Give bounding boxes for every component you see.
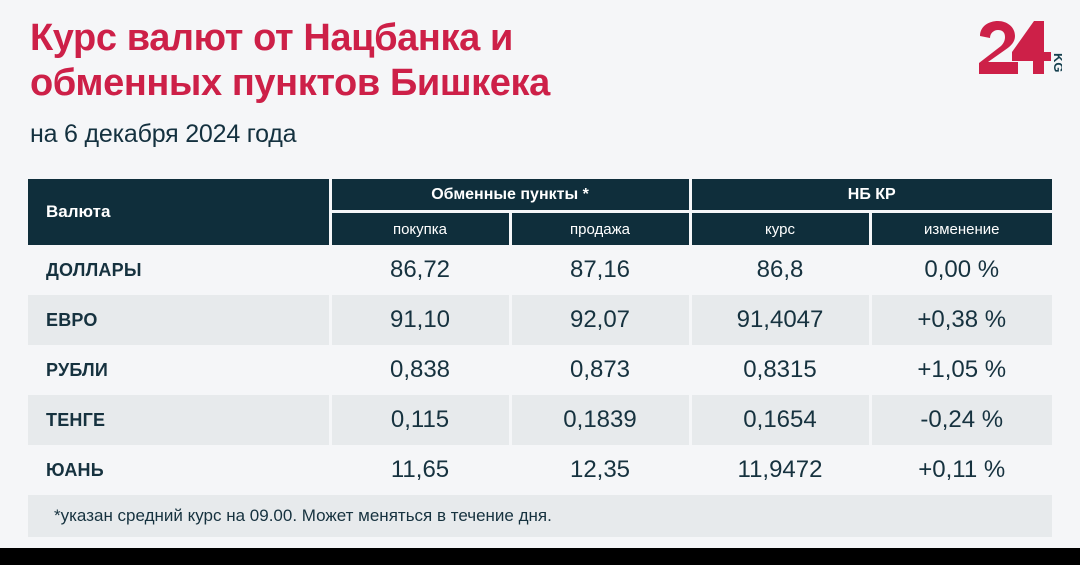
cell-currency: ЕВРО: [28, 295, 330, 345]
table-row: ТЕНГЕ 0,115 0,1839 0,1654 -0,24 %: [28, 395, 1052, 445]
logo-24-mark: [979, 21, 1051, 74]
24kg-logo: KG: [976, 20, 1062, 76]
cell-currency: РУБЛИ: [28, 345, 330, 395]
cell-sell: 92,07: [510, 295, 690, 345]
cell-currency: ЮАНЬ: [28, 445, 330, 495]
rates-table-wrapper: Валюта Обменные пункты * НБ КР покупка п…: [28, 179, 1052, 537]
currency-rates-table: Валюта Обменные пункты * НБ КР покупка п…: [28, 179, 1052, 537]
table-body: ДОЛЛАРЫ 86,72 87,16 86,8 0,00 % ЕВРО 91,…: [28, 245, 1052, 495]
page-title: Курс валют от Нацбанка и обменных пункто…: [30, 16, 930, 106]
column-header-rate: курс: [690, 212, 870, 246]
bottom-black-bar: [0, 548, 1080, 565]
table-row: ЕВРО 91,10 92,07 91,4047 +0,38 %: [28, 295, 1052, 345]
cell-change: +0,38 %: [870, 295, 1052, 345]
cell-rate: 91,4047: [690, 295, 870, 345]
cell-buy: 11,65: [330, 445, 510, 495]
infographic-page: Курс валют от Нацбанка и обменных пункто…: [0, 0, 1080, 548]
column-group-exchange-points: Обменные пункты *: [330, 179, 690, 212]
cell-sell: 0,1839: [510, 395, 690, 445]
svg-text:KG: KG: [1051, 53, 1062, 73]
cell-change: +0,11 %: [870, 445, 1052, 495]
table-header: Валюта Обменные пункты * НБ КР покупка п…: [28, 179, 1052, 245]
column-header-buy: покупка: [330, 212, 510, 246]
column-header-currency: Валюта: [28, 179, 330, 245]
cell-rate: 0,8315: [690, 345, 870, 395]
footnote-row: *указан средний курс на 09.00. Может мен…: [28, 495, 1052, 537]
column-header-sell: продажа: [510, 212, 690, 246]
cell-buy: 86,72: [330, 245, 510, 295]
cell-buy: 0,115: [330, 395, 510, 445]
table-row: РУБЛИ 0,838 0,873 0,8315 +1,05 %: [28, 345, 1052, 395]
cell-currency: ТЕНГЕ: [28, 395, 330, 445]
cell-rate: 0,1654: [690, 395, 870, 445]
table-header-row-groups: Валюта Обменные пункты * НБ КР: [28, 179, 1052, 212]
table-footer: *указан средний курс на 09.00. Может мен…: [28, 495, 1052, 537]
cell-rate: 86,8: [690, 245, 870, 295]
table-row: ЮАНЬ 11,65 12,35 11,9472 +0,11 %: [28, 445, 1052, 495]
cell-rate: 11,9472: [690, 445, 870, 495]
header-block: Курс валют от Нацбанка и обменных пункто…: [30, 16, 930, 149]
table-footnote: *указан средний курс на 09.00. Может мен…: [28, 495, 1052, 537]
cell-buy: 91,10: [330, 295, 510, 345]
cell-sell: 12,35: [510, 445, 690, 495]
cell-change: +1,05 %: [870, 345, 1052, 395]
cell-sell: 87,16: [510, 245, 690, 295]
table-row: ДОЛЛАРЫ 86,72 87,16 86,8 0,00 %: [28, 245, 1052, 295]
cell-currency: ДОЛЛАРЫ: [28, 245, 330, 295]
cell-change: 0,00 %: [870, 245, 1052, 295]
cell-change: -0,24 %: [870, 395, 1052, 445]
cell-sell: 0,873: [510, 345, 690, 395]
cell-buy: 0,838: [330, 345, 510, 395]
page-subtitle: на 6 декабря 2024 года: [30, 120, 930, 149]
column-header-change: изменение: [870, 212, 1052, 246]
column-group-nbkr: НБ КР: [690, 179, 1052, 212]
logo-kg-text: KG: [1051, 53, 1062, 73]
